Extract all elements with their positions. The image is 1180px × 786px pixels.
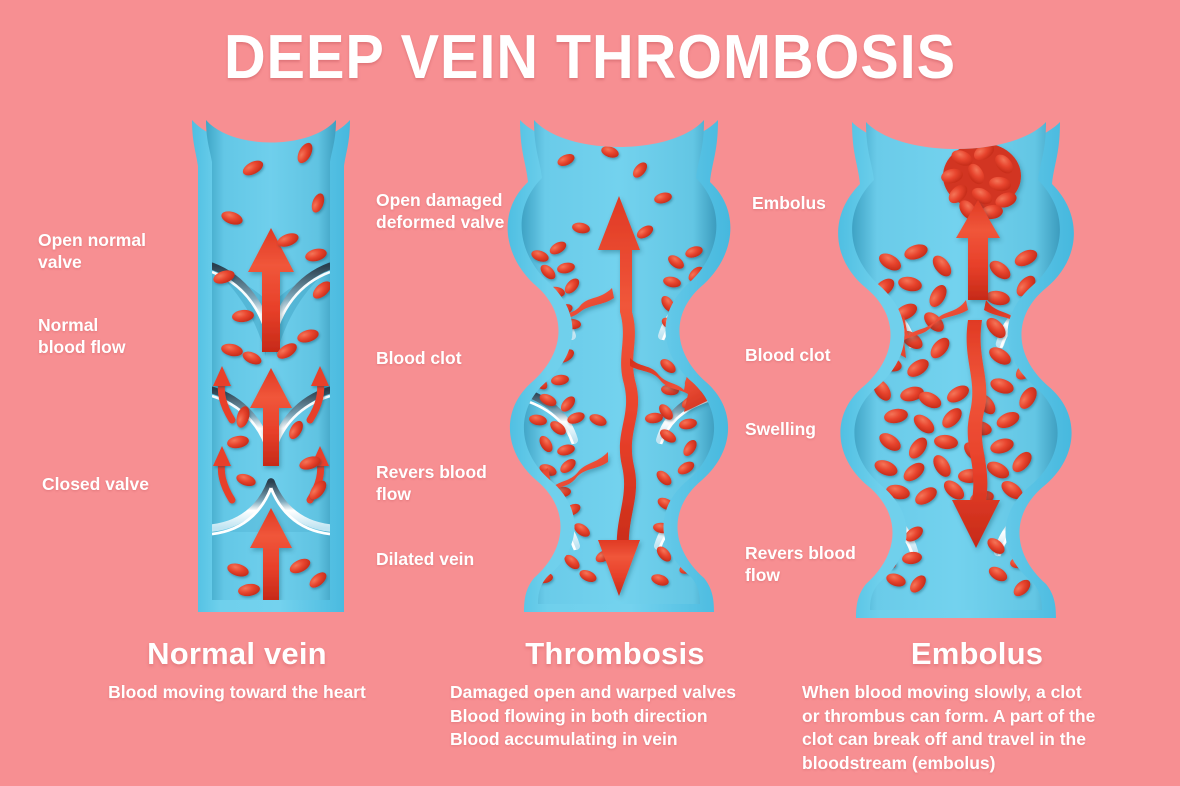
label-dilated-vein: Dilated vein [376, 549, 474, 571]
label-swelling: Swelling [745, 419, 816, 441]
caption-body-normal-vein: Blood moving toward the heart [0, 681, 474, 705]
infographic-canvas: DEEP VEIN THROMBOSIS [0, 0, 1180, 786]
label-blood-clot-right: Blood clot [745, 345, 831, 367]
caption-title-normal-vein: Normal vein [0, 636, 474, 672]
label-blood-clot-middle: Blood clot [376, 348, 462, 370]
label-normal-blood-flow: Normal blood flow [38, 315, 125, 359]
label-open-normal-valve: Open normal valve [38, 230, 146, 274]
normal-vein-illustration [192, 120, 350, 612]
embolus-vein-illustration [838, 122, 1082, 618]
caption-body-embolus: When blood moving slowly, a clot or thro… [802, 681, 1095, 776]
caption-title-thrombosis: Thrombosis [450, 636, 780, 672]
label-embolus: Embolus [752, 193, 826, 215]
thrombosis-vein-illustration [508, 120, 731, 612]
label-closed-valve: Closed valve [42, 474, 149, 496]
label-open-damaged-deformed-valve: Open damaged deformed valve [376, 190, 504, 234]
caption-body-thrombosis: Damaged open and warped valves Blood flo… [450, 681, 736, 752]
label-revers-blood-flow-middle: Revers blood flow [376, 462, 487, 506]
caption-title-embolus: Embolus [802, 636, 1152, 672]
label-revers-blood-flow-right: Revers blood flow [745, 543, 856, 587]
